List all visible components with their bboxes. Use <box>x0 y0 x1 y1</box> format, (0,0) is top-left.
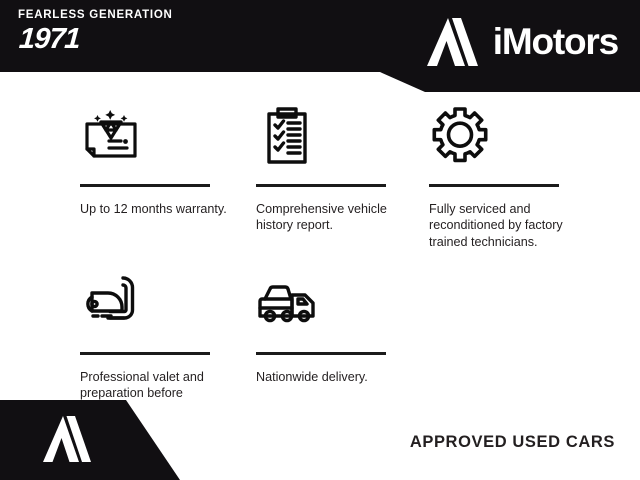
heritage-year: 1971 <box>18 23 240 55</box>
feature-row-2: Professional valet and preparation befor… <box>0 268 640 398</box>
feature-divider <box>429 184 559 187</box>
brand-lockup[interactable]: iMotors <box>425 16 618 68</box>
feature-grid: Up to 12 months warranty. <box>0 100 640 398</box>
brand-name: iMotors <box>493 22 618 62</box>
clipboard-checklist-icon <box>256 100 318 172</box>
feature-text: Fully serviced and reconditioned by fact… <box>429 201 579 250</box>
heritage-title: FEARLESS GENERATION <box>18 8 238 22</box>
feature-text: Nationwide delivery. <box>256 369 406 385</box>
heritage-lockup: FEARLESS GENERATION 1971 <box>18 8 238 55</box>
gear-icon <box>429 100 491 172</box>
feature-divider <box>256 352 386 355</box>
footer-tagline: APPROVED USED CARS <box>410 433 615 452</box>
imotors-approved-used-cars-banner: FEARLESS GENERATION 1971 iMotors <box>0 0 640 480</box>
vacuum-cleaner-icon <box>80 268 142 340</box>
imotors-arrow-logo-icon <box>425 16 481 68</box>
feature-row-1: Up to 12 months warranty. <box>0 100 640 250</box>
feature-item-serviced: Fully serviced and reconditioned by fact… <box>349 100 602 250</box>
warranty-certificate-icon <box>80 100 142 172</box>
feature-item-delivery: Nationwide delivery. <box>176 268 429 385</box>
header-bar: FEARLESS GENERATION 1971 iMotors <box>0 0 640 92</box>
imotors-arrow-logo-icon <box>42 414 94 464</box>
car-transporter-icon <box>256 268 318 340</box>
